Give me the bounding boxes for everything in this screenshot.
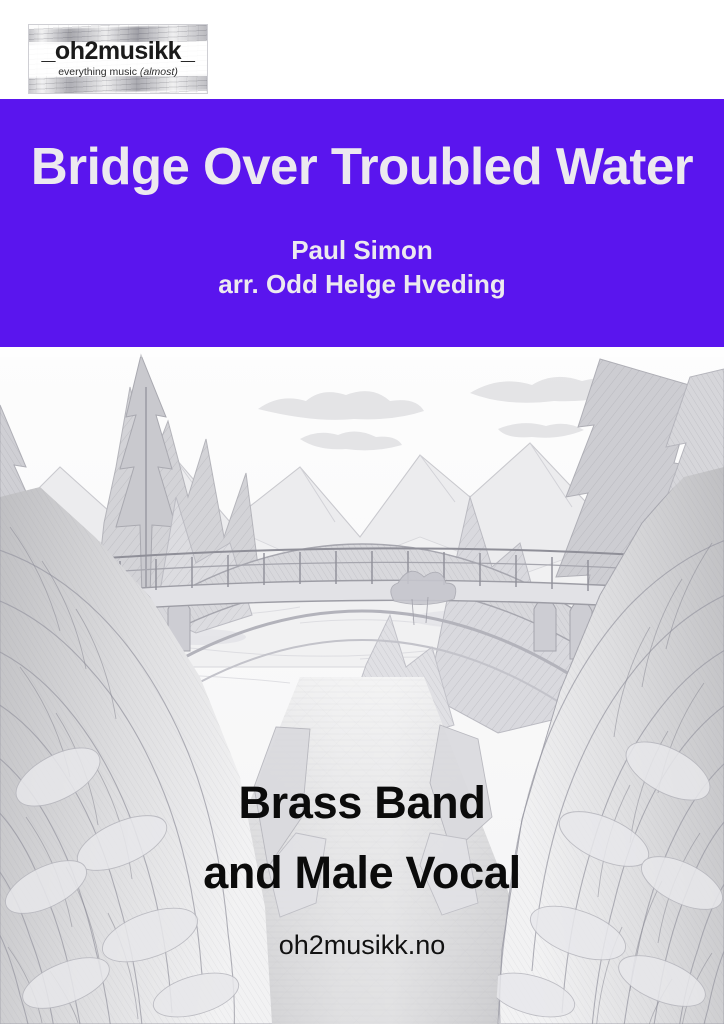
- cover-illustration: [0, 347, 724, 1024]
- title-banner: Bridge Over Troubled Water Paul Simon ar…: [0, 99, 724, 347]
- publisher-logo[interactable]: _oh2musikk_ everything music (almost): [28, 24, 208, 94]
- score-cover-page: _oh2musikk_ everything music (almost) Br…: [0, 0, 724, 1024]
- website-url[interactable]: oh2musikk.no: [0, 932, 724, 959]
- instrumentation-caption: Brass Band and Male Vocal: [0, 768, 724, 908]
- logo-wordmark: _oh2musikk_: [29, 39, 207, 64]
- page-title: Bridge Over Troubled Water: [7, 139, 717, 195]
- credits-block: Paul Simon arr. Odd Helge Hveding: [0, 233, 724, 302]
- logo-tagline-italic: (almost): [140, 66, 178, 78]
- instrumentation-line-2: and Male Vocal: [0, 838, 724, 908]
- composer-name: Paul Simon: [0, 233, 724, 267]
- arranger-name: arr. Odd Helge Hveding: [0, 267, 724, 301]
- logo-tagline-plain: everything music: [58, 66, 140, 78]
- publisher-header: _oh2musikk_ everything music (almost): [0, 0, 724, 99]
- logo-tagline: everything music (almost): [29, 67, 207, 78]
- instrumentation-line-1: Brass Band: [0, 768, 724, 838]
